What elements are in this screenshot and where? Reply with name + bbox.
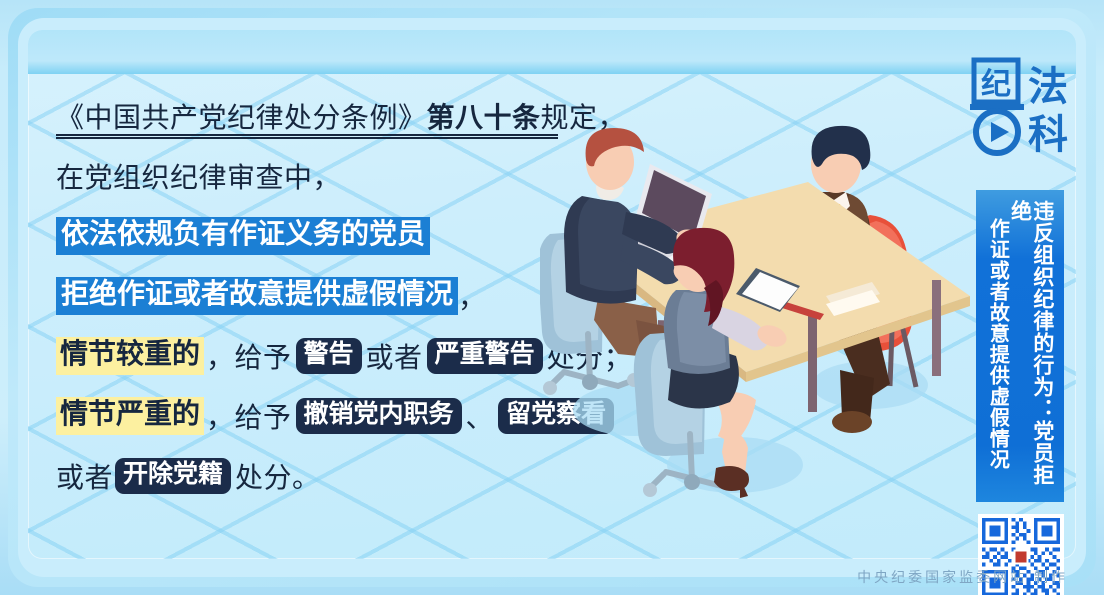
footer-credit: 中央纪委国家监委网站 制作 [857,567,1068,587]
line2-text: 在党组织纪律审查中， [56,156,341,196]
banner-column-left: 作证或者故意提供虚假情况 [986,200,1007,492]
text-line-title: 《中国共产党纪律处分条例》第八十条规定， [56,86,596,146]
logo-char-4: 科 [1028,113,1068,156]
line6-sep: 、 [464,396,497,436]
logo-char-2: 法 [1028,65,1068,109]
highlight-blue-1: 依法依规负有作证义务的党员 [56,217,430,256]
logo-char-1: 纪 [981,68,1011,101]
highlight-blue-2: 拒绝作证或者故意提供虚假情况 [56,277,458,316]
line7-prefix: 或者 [56,456,113,496]
title-quote: 《中国共产党纪律处分条例》 [56,96,427,136]
text-line-2: 在党组织纪律审查中， [56,146,596,206]
penalty-pill-expulsion: 开除党籍 [115,458,231,494]
right-column: 纪 法 科 违反组织纪律的行为：党员拒绝 作证或者故意提供虚假情况 [962,40,1082,545]
title-double-underline [56,134,558,139]
top-band [28,30,1076,74]
text-line-4: 拒绝作证或者故意提供虚假情况， [56,266,596,326]
text-line-6: 情节严重的，给予撤销党内职务、留党察看 [56,386,596,446]
penalty-pill-serious-warning: 严重警告 [427,338,543,374]
penalty-pill-warning: 警告 [296,338,362,374]
text-line-3: 依法依规负有作证义务的党员 [56,206,596,266]
highlight-yellow-1: 情节较重的 [56,337,204,376]
line7-tail: 处分。 [233,456,323,496]
line5-or: 或者 [364,336,425,376]
highlight-yellow-2: 情节严重的 [56,397,204,436]
vertical-title-banner: 违反组织纪律的行为：党员拒绝 作证或者故意提供虚假情况 [976,190,1064,502]
illustration-office-scene [540,120,970,520]
text-line-5: 情节较重的，给予警告或者严重警告处分； [56,326,596,386]
regulation-text-block: 《中国共产党纪律处分条例》第八十条规定， 在党组织纪律审查中， 依法依规负有作证… [56,86,596,506]
line4-tail: ， [458,276,487,316]
jifa-baike-logo: 纪 法 科 [970,56,1076,156]
banner-column-right: 违反组织纪律的行为：党员拒绝 [1009,200,1054,492]
title-article: 第八十条 [427,96,541,136]
line6-mid: ，给予 [204,396,294,436]
penalty-pill-remove-post: 撤销党内职务 [296,398,462,434]
poster-canvas: 《中国共产党纪律处分条例》第八十条规定， 在党组织纪律审查中， 依法依规负有作证… [0,0,1104,595]
line5-mid: ，给予 [204,336,294,376]
text-line-7: 或者开除党籍处分。 [56,446,596,506]
